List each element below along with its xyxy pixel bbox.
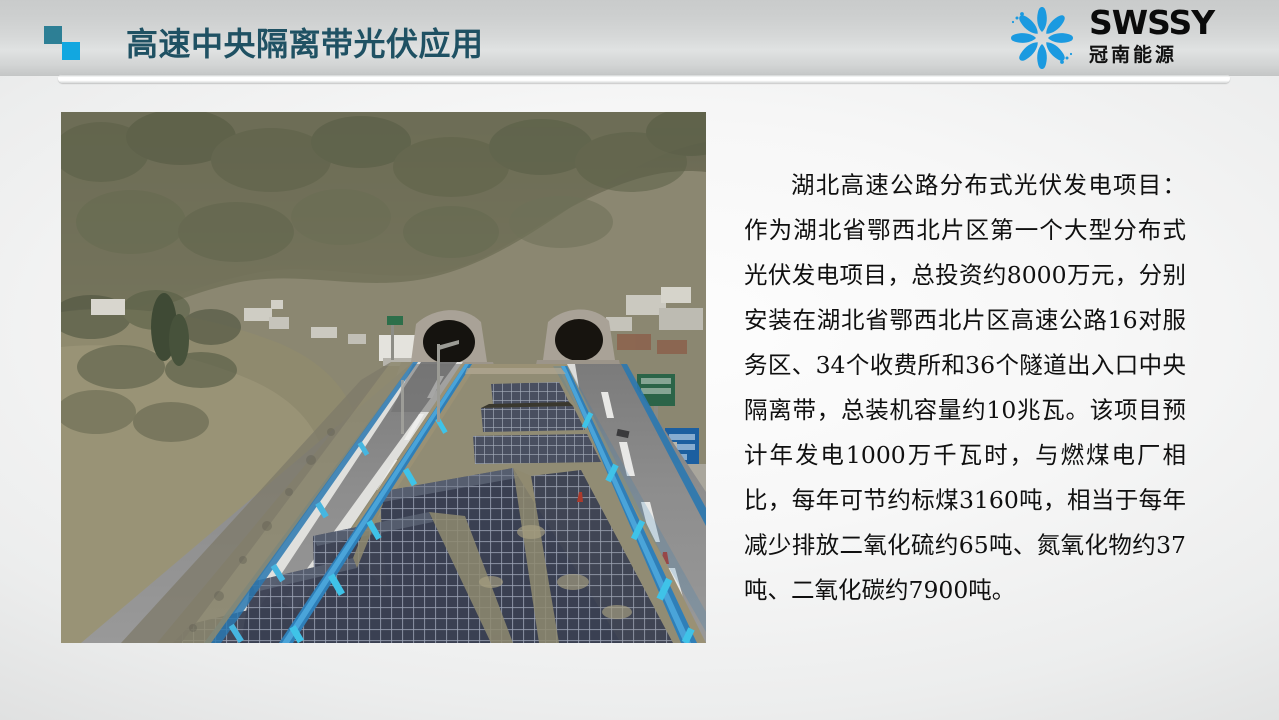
logo-text-block: SWSSY 冠南能源 <box>1089 6 1269 68</box>
body-paragraph: 湖北高速公路分布式光伏发电项目：作为湖北省鄂西北片区第一个大型分布式光伏发电项目… <box>744 163 1186 613</box>
photo-highway-solar-array <box>61 112 706 643</box>
decoration-square-dark-icon <box>44 26 62 44</box>
swssy-droplet-flower-logo-icon <box>1003 6 1081 70</box>
header-separator-bar <box>58 74 1230 83</box>
page-title: 高速中央隔离带光伏应用 <box>126 19 484 65</box>
slide-header: 高速中央隔离带光伏应用 <box>0 0 1279 76</box>
logo-wordmark: SWSSY <box>1089 6 1269 40</box>
slide-canvas: 高速中央隔离带光伏应用 <box>0 0 1279 720</box>
decoration-square-light-icon <box>62 42 80 60</box>
company-logo: SWSSY 冠南能源 <box>1003 2 1271 74</box>
logo-chinese-name: 冠南能源 <box>1089 42 1269 68</box>
